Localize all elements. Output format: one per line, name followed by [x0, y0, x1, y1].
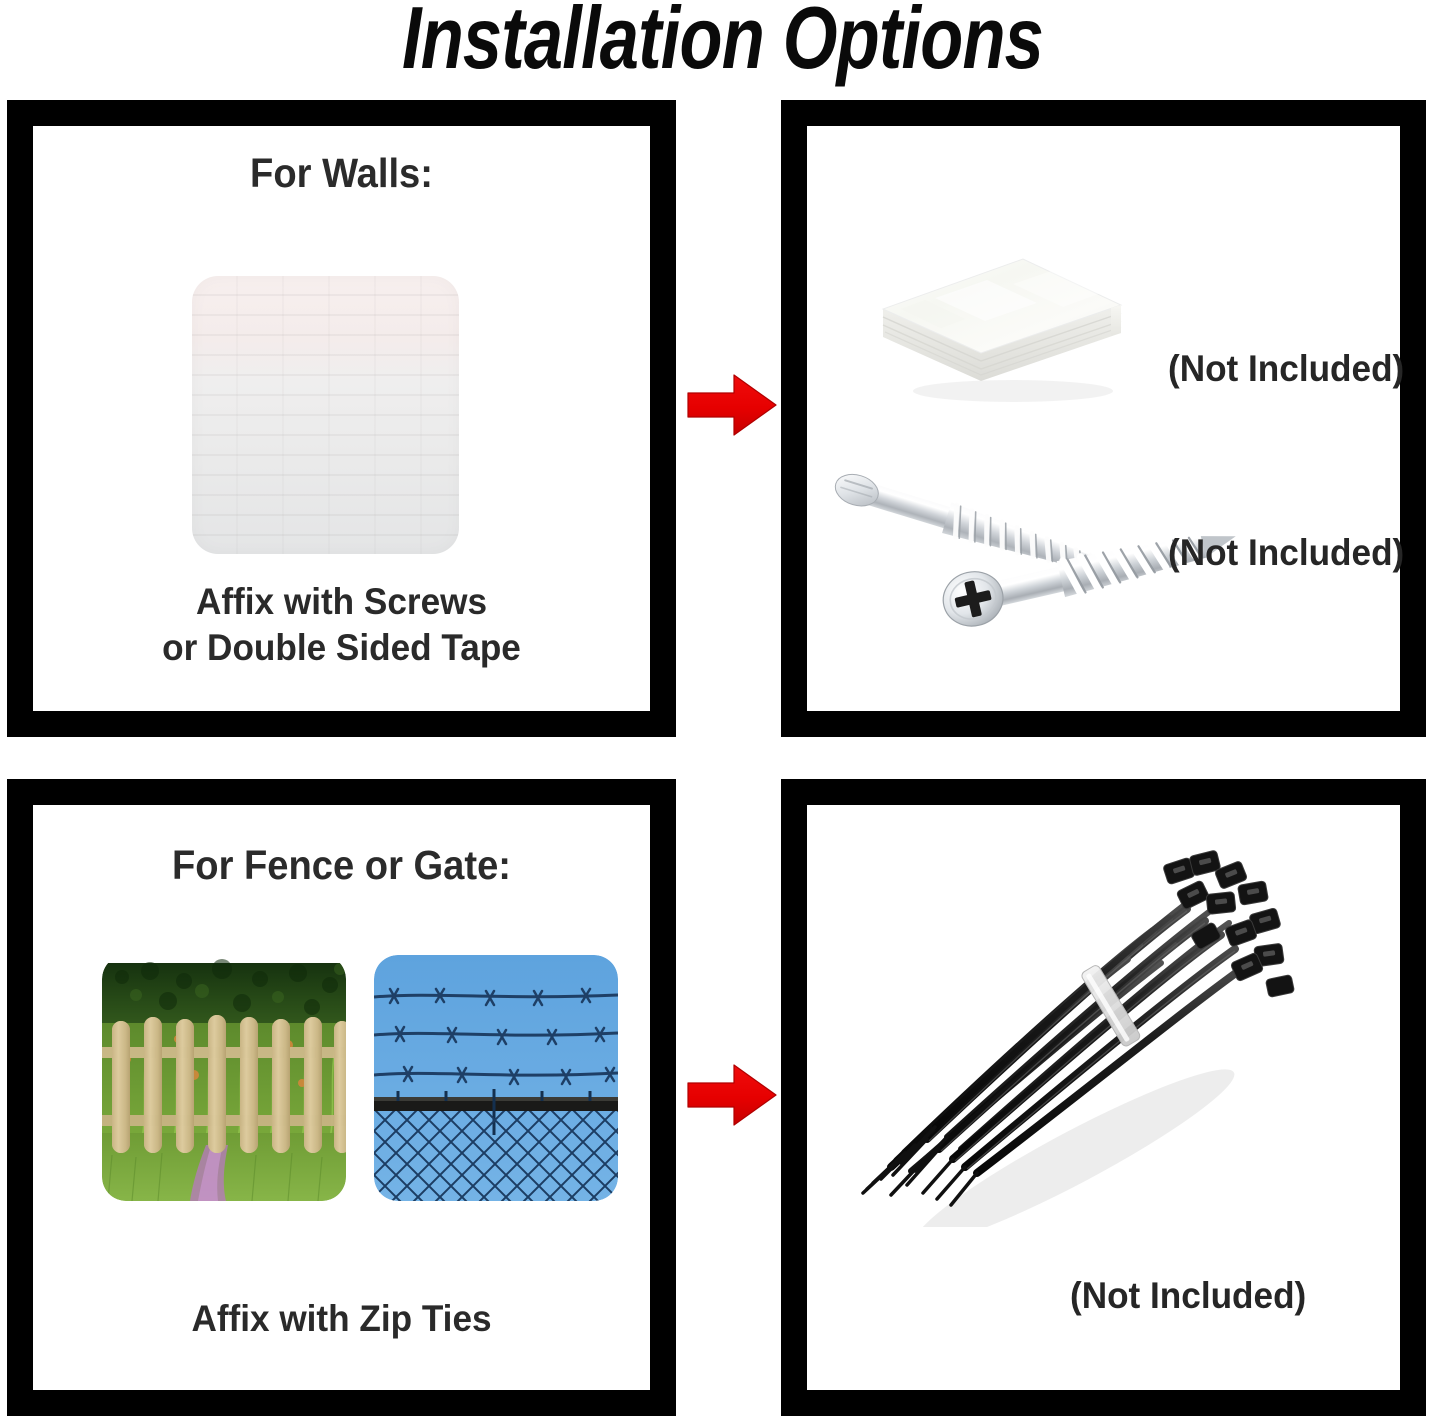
- panel-for-walls: For Walls: Affix with Screws or Double S…: [7, 100, 676, 737]
- wooden-picket-fence-image: [102, 955, 346, 1201]
- caption-line-1: Affix with Screws: [48, 579, 634, 625]
- panel-wall-hardware: (Not Included): [781, 100, 1426, 737]
- page-title: Installation Options: [145, 0, 1301, 82]
- panel-fence-hardware: (Not Included): [781, 779, 1426, 1416]
- panel-fence-heading: For Fence or Gate:: [55, 842, 629, 889]
- chain-link-fence-image: [374, 955, 618, 1201]
- panel-walls-caption: Affix with Screws or Double Sided Tape: [48, 579, 634, 672]
- tape-not-included-label: (Not Included): [1168, 348, 1404, 390]
- panel-fence-caption: Affix with Zip Ties: [48, 1296, 634, 1342]
- arrow-right-icon: [686, 1062, 778, 1128]
- white-brick-wall-image: [192, 276, 459, 554]
- double-sided-tape-stack-image: [873, 241, 1133, 406]
- arrow-right-icon: [686, 372, 778, 438]
- ziptie-not-included-label: (Not Included): [1070, 1275, 1306, 1317]
- panel-for-fence-or-gate: For Fence or Gate:: [7, 779, 676, 1416]
- caption-line-2: or Double Sided Tape: [48, 625, 634, 671]
- screws-not-included-label: (Not Included): [1168, 532, 1404, 574]
- panel-walls-heading: For Walls:: [55, 150, 629, 197]
- black-zip-ties-bundle-image: [835, 827, 1315, 1227]
